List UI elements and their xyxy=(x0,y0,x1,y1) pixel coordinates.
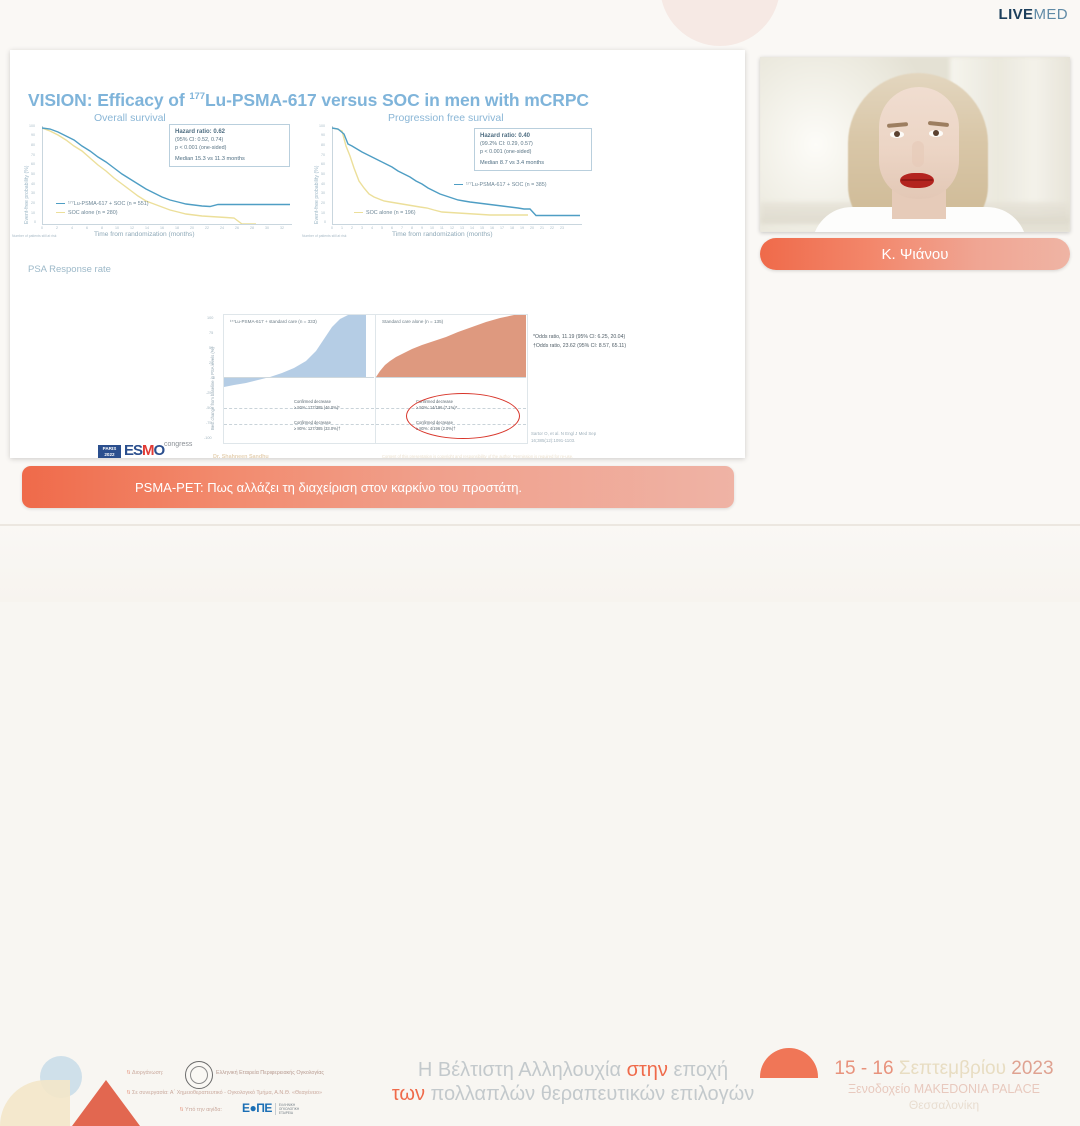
event-date-days: 15 - 16 xyxy=(834,1058,898,1079)
organizer-line-1-name: Ελληνική Εταιρεία Περιφερειακής Ογκολογί… xyxy=(216,1070,324,1076)
lecture-title-banner: PSMA-PET: Πως αλλάζει τη διαχείριση στον… xyxy=(22,466,734,508)
psa-waterfall-control: Standard care alone (n = 135) Confirmed … xyxy=(376,315,526,443)
os-y-tick: 40 xyxy=(31,182,35,186)
pfs-x-tick: 21 xyxy=(540,226,544,230)
os-x-tick: 22 xyxy=(205,226,209,230)
pfs-x-tick: 14 xyxy=(470,226,474,230)
slide-title-superscript: 177 xyxy=(189,91,205,102)
esmo-paris-badge: PARIS 2022 xyxy=(98,445,121,458)
slide-title: VISION: Efficacy of 177Lu-PSMA-617 versu… xyxy=(28,90,728,111)
os-legend-swatch-control xyxy=(56,212,65,214)
slide-title-post: Lu-PSMA-617 versus SOC in men with mCRPC xyxy=(205,90,589,110)
pfs-y-tick: 90 xyxy=(321,133,325,137)
pfs-confidence-interval: (99.2% CI: 0.29, 0.57) xyxy=(480,141,586,149)
os-x-tick: 28 xyxy=(250,226,254,230)
pfs-median: Median 8.7 vs 3.4 months xyxy=(480,159,586,167)
os-x-tick: 32 xyxy=(280,226,284,230)
event-tagline-line1-b: στην xyxy=(627,1059,668,1081)
psa-odds-ratio-1: *Odds ratio, 11.19 (95% CI: 6.25, 20.04) xyxy=(533,333,626,342)
pfs-x-tick: 20 xyxy=(530,226,534,230)
os-legend-label-control: SOC alone (n = 280) xyxy=(68,210,118,216)
os-x-tick: 8 xyxy=(101,226,103,230)
pfs-x-tick: 22 xyxy=(550,226,554,230)
pfs-legend-swatch-control xyxy=(354,212,363,214)
os-x-tick: 12 xyxy=(130,226,134,230)
event-tagline-line1-c: εποχή xyxy=(668,1059,728,1081)
event-date: 15 - 16 Σεπτεμβρίου 2023 xyxy=(818,1058,1070,1081)
pfs-x-tick: 23 xyxy=(560,226,564,230)
speaker-pupil-right xyxy=(933,130,939,136)
os-x-tick: 0 xyxy=(41,226,43,230)
event-date-month: Σεπτεμβρίου xyxy=(899,1058,1011,1079)
pfs-x-tick: 7 xyxy=(401,226,403,230)
psa-y-tick: -100 xyxy=(204,436,212,440)
os-y-tick: 30 xyxy=(31,191,35,195)
speaker-lip-line xyxy=(901,179,933,181)
eope-subtitle-line2: ΟΓΚΟΛΟΓΙΚΗ xyxy=(279,1107,299,1111)
psa-treatment-note-2: Confirmed decrease ≥ 80%: 127/385 (33.0%… xyxy=(294,420,340,432)
slide-copyright-notice: Content of this presentation is copyrigh… xyxy=(382,454,573,459)
event-tagline-line1-a: Η Βέλτιστη Αλληλουχία xyxy=(418,1059,627,1081)
psa-y-tick: 75 xyxy=(209,331,213,335)
pfs-risk-table-note: Number of patients still at risk xyxy=(302,234,346,238)
psa-y-tick: -75 xyxy=(206,421,212,425)
esmo-paris-year: 2022 xyxy=(98,452,121,458)
event-tagline-line2-a: των xyxy=(392,1083,425,1105)
psa-highlight-ellipse xyxy=(406,393,520,439)
pfs-x-tick: 11 xyxy=(440,226,444,230)
os-x-tick: 26 xyxy=(235,226,239,230)
os-legend-item-treatment: ¹⁷⁷Lu-PSMA-617 + SOC (n = 551) xyxy=(56,201,149,207)
pfs-x-tick: 8 xyxy=(411,226,413,230)
pfs-y-tick: 20 xyxy=(321,201,325,205)
psa-y-tick: -25 xyxy=(206,391,212,395)
psa-waterfall-chart: ¹⁷⁷Lu-PSMA-617 + standard care (n = 333)… xyxy=(223,314,528,444)
eope-subtitle-line3: ΕΤΑΙΡΕΙΑ xyxy=(279,1111,299,1115)
psa-odds-ratios: *Odds ratio, 11.19 (95% CI: 6.25, 20.04)… xyxy=(533,333,626,351)
os-x-tick: 2 xyxy=(56,226,58,230)
organizer-line-1-prefix: Διοργάνωση: xyxy=(132,1070,163,1076)
os-legend-label-treatment: ¹⁷⁷Lu-PSMA-617 + SOC (n = 551) xyxy=(68,201,149,207)
event-venue: Ξενοδοχείο MAKEDONIA PALACE xyxy=(818,1082,1070,1097)
os-hazard-ratio: Hazard ratio: 0.62 xyxy=(175,128,284,137)
os-median: Median 15.3 vs 11.3 months xyxy=(175,155,284,163)
os-y-tick: 10 xyxy=(31,211,35,215)
hesmo-seal-logo xyxy=(185,1061,213,1089)
speaker-name-badge: Κ. Ψιάνου xyxy=(760,238,1070,270)
lecture-title-label: PSMA-PET: Πως αλλάζει τη διαχείριση στον… xyxy=(135,480,522,495)
organizer-line-3: \\Υπό την αιγίδα: xyxy=(180,1107,222,1113)
pfs-x-tick: 0 xyxy=(331,226,333,230)
pfs-chart-title: Progression free survival xyxy=(388,112,504,124)
organizer-society-name: Ελληνική Εταιρεία Περιφερειακής Ογκολογί… xyxy=(216,1070,324,1076)
event-date-venue: 15 - 16 Σεπτεμβρίου 2023 Ξενοδοχείο MAKE… xyxy=(818,1058,1070,1112)
os-x-tick: 10 xyxy=(115,226,119,230)
pfs-stats-box: Hazard ratio: 0.40 (99.2% CI: 0.29, 0.57… xyxy=(474,128,592,171)
esmo-wordmark: ESMO xyxy=(124,443,164,459)
pfs-y-tick: 40 xyxy=(321,182,325,186)
pfs-y-tick: 10 xyxy=(321,211,325,215)
chevron-icon: \\ xyxy=(127,1070,130,1076)
esmo-wordmark-o: O xyxy=(154,442,165,459)
pfs-y-tick: 100 xyxy=(319,124,325,128)
os-y-tick: 0 xyxy=(34,220,36,224)
event-tagline-line2-b: πολλαπλών θεραπευτικών επιλογών xyxy=(425,1083,754,1105)
pfs-x-tick: 5 xyxy=(381,226,383,230)
os-x-tick: 4 xyxy=(71,226,73,230)
decor-triangle-red xyxy=(72,1080,140,1126)
psa-y-axis-label: Best change from baseline in PSA levels … xyxy=(210,347,215,430)
os-y-tick: 50 xyxy=(31,172,35,176)
psa-y-tick: -50 xyxy=(206,406,212,410)
pfs-y-tick: 50 xyxy=(321,172,325,176)
speaker-nose xyxy=(912,141,924,167)
os-y-tick: 80 xyxy=(31,143,35,147)
slide-presenter-name: Dr. Shahneen Sandhu xyxy=(213,454,269,460)
pfs-legend-item-control: SOC alone (n = 196) xyxy=(354,210,416,216)
os-y-tick: 90 xyxy=(31,133,35,137)
os-y-axis-label: Event-free probability (%) xyxy=(24,165,30,224)
os-x-tick: 30 xyxy=(265,226,269,230)
os-x-tick: 24 xyxy=(220,226,224,230)
presentation-slide[interactable]: VISION: Efficacy of 177Lu-PSMA-617 versu… xyxy=(10,50,745,458)
pfs-legend-label-treatment: ¹⁷⁷Lu-PSMA-617 + SOC (n = 385) xyxy=(466,182,547,188)
eope-wordmark: E●ΠΕ xyxy=(242,1102,272,1115)
pfs-legend-item-treatment: ¹⁷⁷Lu-PSMA-617 + SOC (n = 385) xyxy=(454,182,547,188)
chevron-icon: \\ xyxy=(180,1107,183,1113)
organizer-collaboration: Σε συνεργασία: Α΄ Χημειοθεραπευτικό - Ογ… xyxy=(132,1090,322,1096)
pfs-x-tick: 12 xyxy=(450,226,454,230)
os-chart-title: Overall survival xyxy=(94,112,166,124)
psa-treatment-note-1-line2: ≥ 50%: 177/385 (46.0%)* xyxy=(294,405,340,411)
pfs-y-tick: 80 xyxy=(321,143,325,147)
progression-free-survival-chart: Progression free survival Event-free pro… xyxy=(308,112,608,242)
pfs-y-tick: 30 xyxy=(321,191,325,195)
livemed-logo-live: LIVE xyxy=(999,6,1034,23)
os-y-tick: 100 xyxy=(29,124,35,128)
os-stats-box: Hazard ratio: 0.62 (95% CI: 0.52, 0.74) … xyxy=(169,124,290,167)
livemed-logo: LIVEMED xyxy=(999,6,1069,23)
livemed-logo-med: MED xyxy=(1033,6,1068,23)
event-date-year: 2023 xyxy=(1011,1058,1053,1079)
pfs-x-tick: 2 xyxy=(351,226,353,230)
slide-citation: Sartor O, et al. N Engl J Med Sep 16;385… xyxy=(531,431,596,444)
os-y-tick: 20 xyxy=(31,201,35,205)
psa-control-caption: Standard care alone (n = 135) xyxy=(382,319,443,324)
slide-citation-line2: 16;385(12):1091-1103. xyxy=(531,438,596,445)
os-x-tick: 14 xyxy=(145,226,149,230)
pfs-x-tick: 18 xyxy=(510,226,514,230)
pfs-x-tick: 19 xyxy=(520,226,524,230)
os-x-tick: 18 xyxy=(175,226,179,230)
os-y-tick: 60 xyxy=(31,162,35,166)
os-p-value: p < 0.001 (one-sided) xyxy=(175,145,284,153)
organizer-auspices: Υπό την αιγίδα: xyxy=(185,1107,222,1113)
psa-y-tick: 50 xyxy=(209,346,213,350)
psa-treatment-note-1: Confirmed decrease ≥ 50%: 177/385 (46.0%… xyxy=(294,399,340,411)
psa-y-tick: 100 xyxy=(207,316,213,320)
overall-survival-chart: Overall survival Event-free probability … xyxy=(18,112,308,242)
os-legend-item-control: SOC alone (n = 280) xyxy=(56,210,118,216)
eope-logo: E●ΠΕ ΕΛΛΗΝΙΚΗ ΟΓΚΟΛΟΓΙΚΗ ΕΤΑΙΡΕΙΑ xyxy=(242,1101,299,1116)
psa-y-tick: 0 xyxy=(213,376,215,380)
os-risk-table-note: Number of patients still at risk xyxy=(12,234,56,238)
pfs-x-tick: 3 xyxy=(361,226,363,230)
esmo-wordmark-es: ES xyxy=(124,442,142,459)
organizer-line-2: \\Σε συνεργασία: Α΄ Χημειοθεραπευτικό - … xyxy=(127,1090,322,1096)
pfs-x-tick: 1 xyxy=(341,226,343,230)
psa-waterfall-treatment: ¹⁷⁷Lu-PSMA-617 + standard care (n = 333)… xyxy=(224,315,374,443)
pfs-x-tick: 13 xyxy=(460,226,464,230)
psa-y-tick: 25 xyxy=(209,361,213,365)
pfs-legend-label-control: SOC alone (n = 196) xyxy=(366,210,416,216)
pfs-x-tick: 9 xyxy=(421,226,423,230)
decor-arc-cream xyxy=(0,1080,70,1126)
speaker-name-label: Κ. Ψιάνου xyxy=(882,246,949,263)
speaker-pupil-left xyxy=(894,131,900,137)
organizer-line-1: \\Διοργάνωση: xyxy=(127,1070,163,1076)
pfs-y-tick: 60 xyxy=(321,162,325,166)
os-y-tick: 70 xyxy=(31,153,35,157)
pfs-y-tick: 0 xyxy=(324,220,326,224)
pfs-legend-swatch-treatment xyxy=(454,184,463,186)
psa-odds-ratio-2: †Odds ratio, 23.62 (95% CI: 8.57, 65.11) xyxy=(533,342,626,351)
psa-response-rate-label: PSA Response rate xyxy=(28,264,111,275)
os-x-tick: 20 xyxy=(190,226,194,230)
pfs-x-tick: 6 xyxy=(391,226,393,230)
event-footer: \\Διοργάνωση: Ελληνική Εταιρεία Περιφερε… xyxy=(0,524,1080,602)
psa-treatment-caption: ¹⁷⁷Lu-PSMA-617 + standard care (n = 333) xyxy=(230,319,317,324)
speaker-video-feed[interactable] xyxy=(760,57,1070,232)
pfs-x-tick: 16 xyxy=(490,226,494,230)
esmo-wordmark-m: M xyxy=(142,442,154,459)
psa-treatment-note-2-line2: ≥ 80%: 127/385 (33.0%)† xyxy=(294,426,340,432)
event-tagline-line2: των πολλαπλών θεραπευτικών επιλογών xyxy=(358,1082,788,1106)
event-tagline: Η Βέλτιστη Αλληλουχία στην εποχή των πολ… xyxy=(358,1058,788,1107)
pfs-x-tick: 17 xyxy=(500,226,504,230)
eope-subtitle: ΕΛΛΗΝΙΚΗ ΟΓΚΟΛΟΓΙΚΗ ΕΤΑΙΡΕΙΑ xyxy=(275,1103,299,1115)
pfs-hazard-ratio: Hazard ratio: 0.40 xyxy=(480,132,586,141)
os-x-axis-label: Time from randomization (months) xyxy=(94,231,195,238)
os-legend-swatch-treatment xyxy=(56,203,65,205)
event-tagline-line1: Η Βέλτιστη Αλληλουχία στην εποχή xyxy=(358,1058,788,1082)
pfs-y-axis-label: Event-free probability (%) xyxy=(314,165,320,224)
pfs-x-axis-label: Time from randomization (months) xyxy=(392,231,493,238)
os-confidence-interval: (95% CI: 0.52, 0.74) xyxy=(175,137,284,145)
esmo-congress-word: congress xyxy=(164,441,192,448)
os-x-tick: 16 xyxy=(160,226,164,230)
pfs-x-axis-line xyxy=(332,224,582,225)
slide-citation-line1: Sartor O, et al. N Engl J Med Sep xyxy=(531,431,596,438)
os-x-axis-line xyxy=(42,224,292,225)
pfs-x-tick: 4 xyxy=(371,226,373,230)
pfs-p-value: p < 0.001 (one-sided) xyxy=(480,149,586,157)
pfs-x-tick: 15 xyxy=(480,226,484,230)
os-x-tick: 6 xyxy=(86,226,88,230)
pfs-x-tick: 10 xyxy=(430,226,434,230)
pfs-y-tick: 70 xyxy=(321,153,325,157)
chevron-icon: \\ xyxy=(127,1090,130,1096)
event-city: Θεσσαλονίκη xyxy=(818,1098,1070,1112)
slide-title-pre: VISION: Efficacy of xyxy=(28,90,189,110)
